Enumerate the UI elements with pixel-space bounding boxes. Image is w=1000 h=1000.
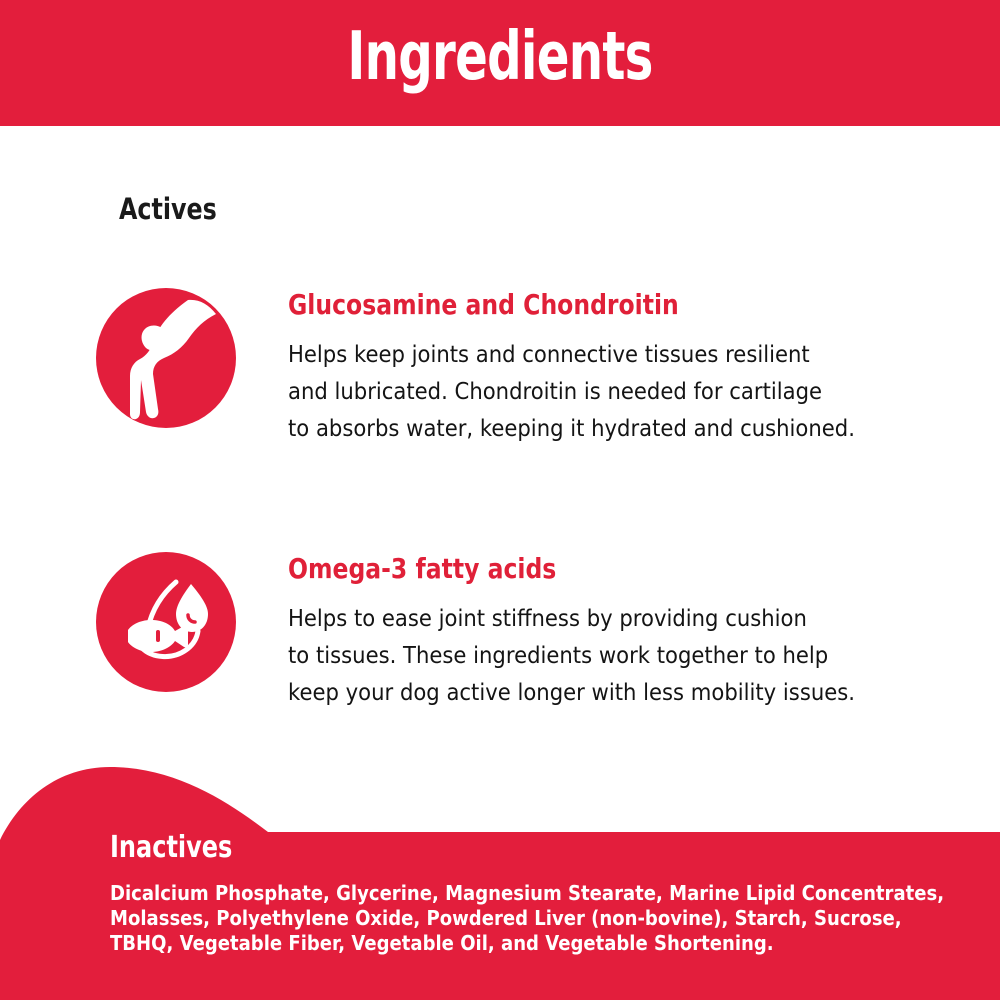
ingredient-text: Glucosamine and Chondroitin Helps keep j… [288, 288, 988, 447]
ingredient-text: Omega-3 fatty acids Helps to ease joint … [288, 552, 988, 711]
inactives-line: Molasses, Polyethylene Oxide, Powdered L… [110, 906, 990, 931]
joint-bone-icon [96, 288, 236, 428]
description-line: to tissues. These ingredients work toget… [288, 637, 981, 674]
inactives-line: TBHQ, Vegetable Fiber, Vegetable Oil, an… [110, 931, 990, 956]
inactives-section-label: Inactives [110, 831, 232, 865]
description-line: keep your dog active longer with less mo… [288, 674, 981, 711]
ingredient-title: Omega-3 fatty acids [288, 552, 876, 586]
description-line: Helps keep joints and connective tissues… [288, 336, 981, 373]
ingredients-panel: Ingredients Actives Glucosamine and Chon… [0, 0, 1000, 1000]
inactives-section: Inactives Dicalcium Phosphate, Glycerine… [0, 755, 1000, 1000]
ingredient-description: Helps keep joints and connective tissues… [288, 336, 981, 447]
ingredient-title: Glucosamine and Chondroitin [288, 288, 876, 322]
description-line: to absorbs water, keeping it hydrated an… [288, 410, 981, 447]
actives-section-label: Actives [119, 192, 217, 226]
inactives-line: Dicalcium Phosphate, Glycerine, Magnesiu… [110, 881, 990, 906]
description-line: and lubricated. Chondroitin is needed fo… [288, 373, 981, 410]
ingredient-description: Helps to ease joint stiffness by providi… [288, 600, 981, 711]
fish-droplet-icon [96, 552, 236, 692]
description-line: Helps to ease joint stiffness by providi… [288, 600, 981, 637]
header-band: Ingredients [0, 0, 1000, 126]
inactives-list: Dicalcium Phosphate, Glycerine, Magnesiu… [110, 881, 990, 956]
page-title: Ingredients [140, 14, 860, 98]
